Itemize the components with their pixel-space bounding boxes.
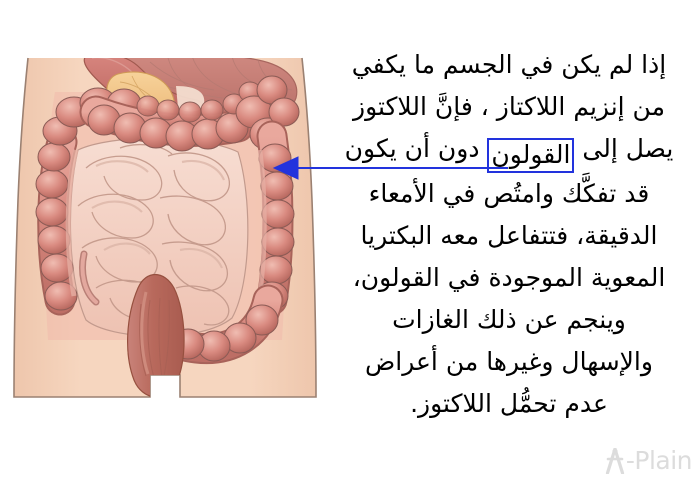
- colon-anatomy-illustration: [0, 0, 330, 480]
- text-line-4: قد تفكَّك وامتُص في الأمعاء: [335, 173, 683, 215]
- slide-canvas: إذا لم يكن في الجسم ما يكفي من إنزيم الل…: [0, 0, 700, 480]
- rectum: [128, 275, 184, 398]
- xplain-logo: -Plain: [604, 448, 692, 474]
- text-line-2: من إنزيم اللاكتاز ، فإنَّ اللاكتوز: [335, 86, 683, 128]
- text-line-3-before: يصل إلى: [574, 134, 673, 163]
- highlighted-term-colon[interactable]: القولون: [487, 138, 574, 173]
- text-line-3-after: دون أن يكون: [345, 134, 488, 163]
- text-line-6: المعوية الموجودة في القولون،: [335, 257, 683, 299]
- arrow-head-icon: [274, 157, 298, 179]
- logo-wordmark: -Plain: [626, 448, 692, 474]
- x-person-icon: [604, 448, 626, 474]
- text-line-8: والإسهال وغيرها من أعراض: [335, 341, 683, 383]
- text-line-9: عدم تحمُّل اللاكتوز.: [335, 383, 683, 425]
- text-line-1: إذا لم يكن في الجسم ما يكفي: [335, 44, 683, 86]
- text-line-7: وينجم عن ذلك الغازات: [335, 299, 683, 341]
- text-line-5: الدقيقة، فتتفاعل معه البكتريا: [335, 215, 683, 257]
- arabic-body-text: إذا لم يكن في الجسم ما يكفي من إنزيم الل…: [335, 44, 683, 425]
- text-line-3: يصل إلى القولون دون أن يكون: [335, 128, 683, 173]
